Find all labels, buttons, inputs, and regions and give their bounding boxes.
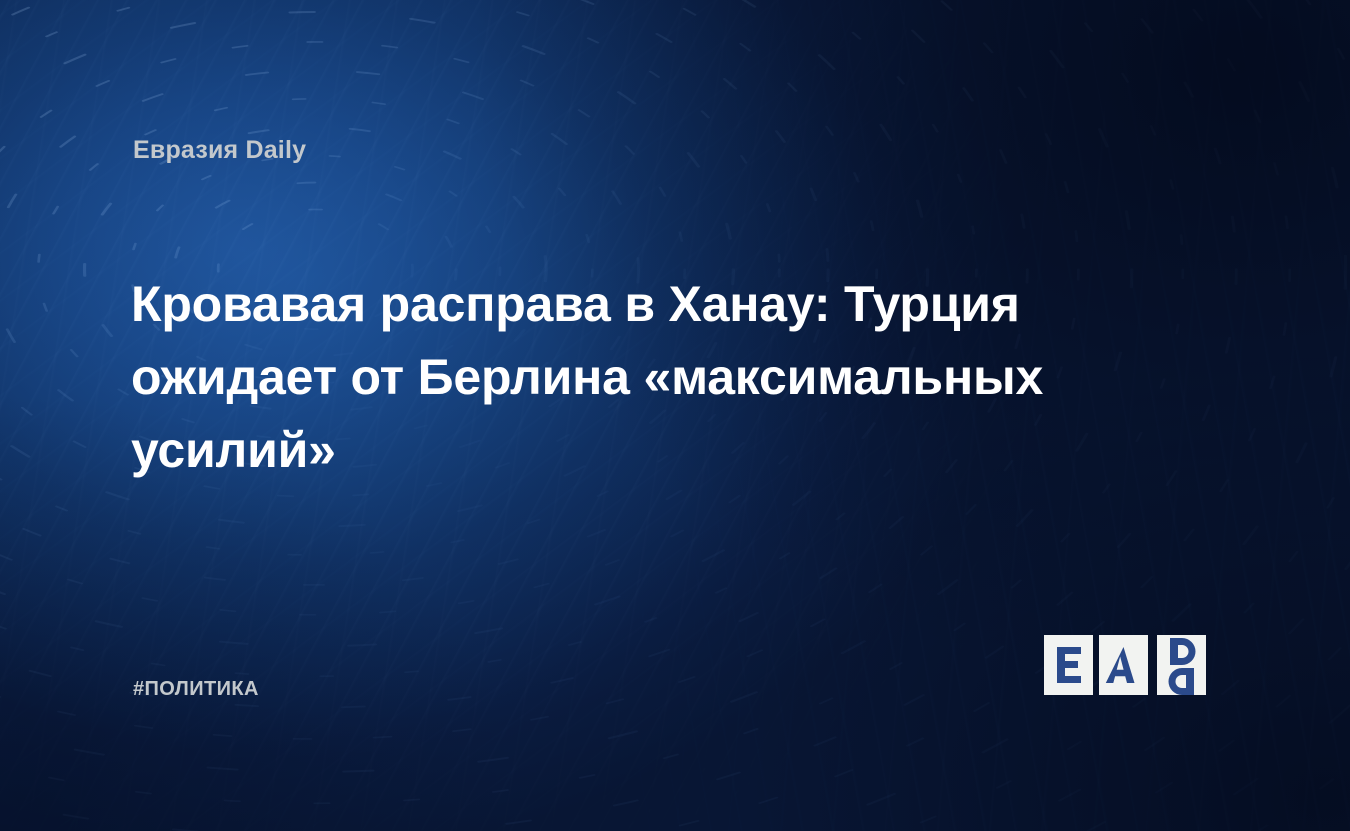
site-name: Евразия Daily [133,136,306,165]
category-tag[interactable]: #ПОЛИТИКА [133,678,259,701]
headline: Кровавая расправа в Ханау: Турция ожидае… [131,268,1151,487]
eadaily-logo[interactable] [1044,620,1230,720]
card-content: Евразия Daily Кровавая расправа в Ханау:… [0,0,1350,831]
logo-letter-e [1057,647,1081,683]
news-card: Евразия Daily Кровавая расправа в Ханау:… [0,0,1350,831]
